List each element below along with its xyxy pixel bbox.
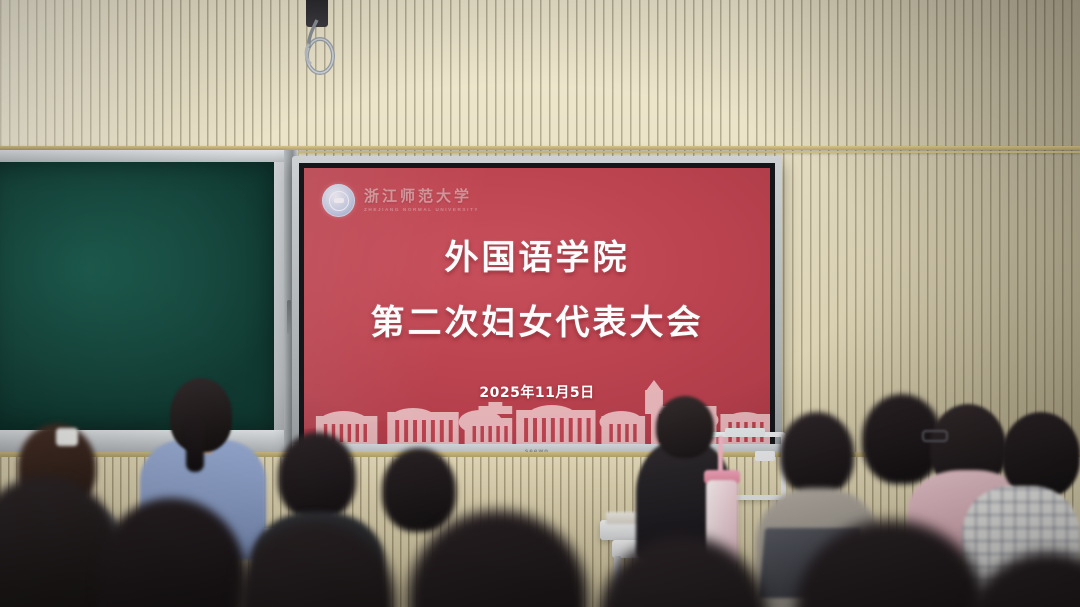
photo-vignette	[0, 0, 1080, 607]
classroom-conference-scene: 浙江师范大学 ZHEJIANG NORMAL UNIVERSITY 外国语学院 …	[0, 0, 1080, 607]
